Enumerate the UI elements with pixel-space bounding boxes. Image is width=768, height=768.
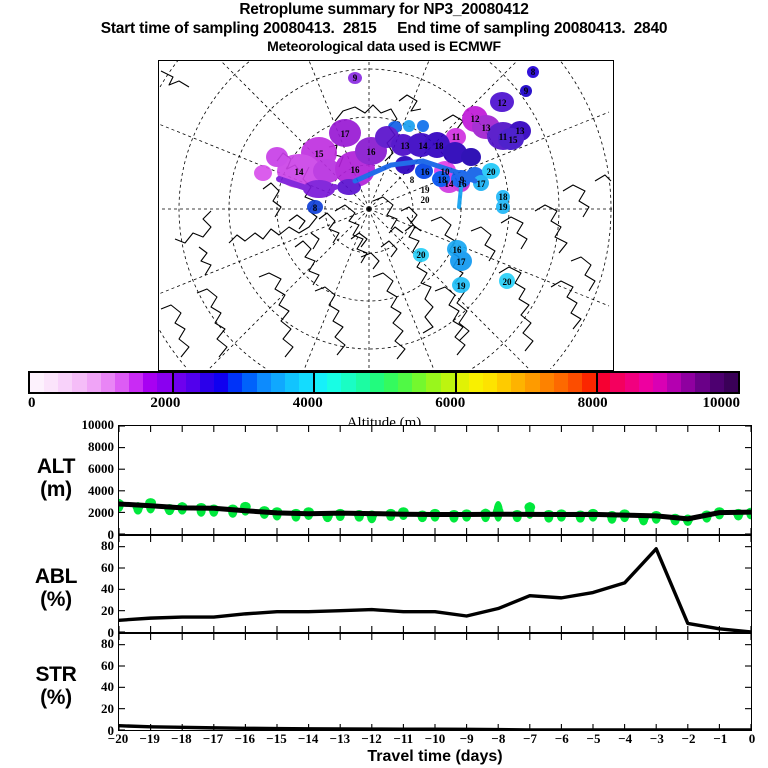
svg-text:20: 20 <box>487 167 497 177</box>
colorbar-swatch <box>398 373 412 392</box>
xtick-label: −7 <box>523 731 537 747</box>
xtick-label: −15 <box>266 731 286 747</box>
colorbar-swatch <box>58 373 72 392</box>
retroplume-map[interactable]: 98 912 1213 1111 1315 1014 1615 1416 161… <box>158 60 614 371</box>
colorbar-swatch <box>129 373 143 392</box>
str-plot <box>119 634 751 730</box>
colorbar-swatch <box>257 373 271 392</box>
svg-text:15: 15 <box>315 149 325 159</box>
colorbar-swatch <box>625 373 639 392</box>
xtick-label: −5 <box>587 731 601 747</box>
ytick-label: 2000 <box>88 505 114 521</box>
ytick-label: 80 <box>101 636 114 652</box>
colorbar-swatch <box>271 373 285 392</box>
colorbar-swatch <box>44 373 58 392</box>
colorbar-swatch <box>540 373 554 392</box>
xtick-label: −18 <box>171 731 191 747</box>
colorbar-swatch <box>582 373 596 392</box>
colorbar-swatch <box>356 373 370 392</box>
alt-ytick-labels: 0200040006000800010000 <box>58 425 114 535</box>
colorbar-swatch <box>426 373 440 392</box>
colorbar-swatch <box>455 373 469 392</box>
abl-plot <box>119 536 751 632</box>
xtick-label: −8 <box>491 731 505 747</box>
colorbar-swatch <box>710 373 724 392</box>
abl-panel[interactable] <box>118 535 752 633</box>
svg-text:19: 19 <box>421 185 431 195</box>
xtick-label: −20 <box>108 731 128 747</box>
colorbar-swatch <box>327 373 341 392</box>
colorbar-swatch <box>172 373 186 392</box>
colorbar-swatch <box>370 373 384 392</box>
colorbar-swatch <box>228 373 242 392</box>
colorbar-divider <box>313 373 315 392</box>
svg-text:17: 17 <box>477 179 487 189</box>
colorbar-swatch <box>511 373 525 392</box>
colorbar-tick-label: 0 <box>28 395 36 412</box>
colorbar-swatch <box>200 373 214 392</box>
colorbar-tick-labels: 0200040006000800010000 <box>28 395 740 415</box>
colorbar-swatch <box>610 373 624 392</box>
svg-text:14: 14 <box>419 141 429 151</box>
svg-text:16: 16 <box>367 147 377 157</box>
colorbar-swatch <box>525 373 539 392</box>
ytick-label: 80 <box>101 538 114 554</box>
colorbar-swatch <box>313 373 327 392</box>
colorbar-swatch <box>653 373 667 392</box>
ytick-label: 40 <box>101 581 114 597</box>
svg-text:20: 20 <box>421 195 431 205</box>
colorbar-swatch <box>143 373 157 392</box>
colorbar-swatch <box>554 373 568 392</box>
svg-text:18: 18 <box>435 141 445 151</box>
colorbar-divider <box>455 373 457 392</box>
svg-text:12: 12 <box>471 114 481 124</box>
ytick-label: 4000 <box>88 483 114 499</box>
colorbar-tick-label: 2000 <box>150 395 180 412</box>
colorbar-swatch <box>341 373 355 392</box>
ytick-label: 6000 <box>88 461 114 477</box>
str-panel[interactable] <box>118 633 752 731</box>
svg-text:8: 8 <box>410 175 415 185</box>
xtick-label: −6 <box>555 731 569 747</box>
colorbar-swatch <box>242 373 256 392</box>
colorbar-swatch <box>483 373 497 392</box>
xtick-label: 0 <box>749 731 756 747</box>
met-data-line: Meteorological data used is ECMWF <box>0 38 768 55</box>
colorbar-divider <box>172 373 174 392</box>
colorbar-swatch <box>497 373 511 392</box>
colorbar-tick-label: 4000 <box>293 395 323 412</box>
ytick-label: 60 <box>101 560 114 576</box>
xaxis-tick-labels: −20−19−18−17−16−15−14−13−12−11−10−9−8−7−… <box>118 731 752 747</box>
colorbar-swatch <box>30 373 44 392</box>
colorbar-swatch <box>412 373 426 392</box>
xtick-label: −11 <box>393 731 413 747</box>
svg-text:8: 8 <box>531 67 536 77</box>
svg-text:17: 17 <box>457 257 467 267</box>
colorbar-swatch <box>695 373 709 392</box>
colorbar-swatch <box>639 373 653 392</box>
colorbar-swatch <box>299 373 313 392</box>
ytick-label: 10000 <box>82 417 115 433</box>
colorbar-swatch <box>384 373 398 392</box>
svg-text:9: 9 <box>460 175 465 185</box>
colorbar-swatch <box>285 373 299 392</box>
xtick-label: −1 <box>713 731 727 747</box>
svg-text:13: 13 <box>401 141 411 151</box>
colorbar-swatch <box>469 373 483 392</box>
xtick-label: −4 <box>618 731 632 747</box>
svg-text:12: 12 <box>498 98 508 108</box>
svg-text:20: 20 <box>417 250 427 260</box>
xtick-label: −2 <box>682 731 696 747</box>
svg-text:8: 8 <box>313 203 318 213</box>
colorbar-swatch <box>441 373 455 392</box>
svg-text:11: 11 <box>499 132 508 142</box>
altitude-colorbar-block: 0200040006000800010000 Altitude (m) <box>28 371 740 432</box>
abl-ytick-labels: 020406080 <box>58 535 114 633</box>
colorbar-swatch <box>568 373 582 392</box>
xtick-label: −13 <box>330 731 350 747</box>
svg-text:11: 11 <box>452 132 461 142</box>
map-graphic: 98 912 1213 1111 1315 1014 1615 1416 161… <box>159 61 612 369</box>
colorbar-swatch <box>214 373 228 392</box>
xaxis-title: Travel time (days) <box>118 748 752 766</box>
colorbar-swatch <box>186 373 200 392</box>
svg-text:16: 16 <box>351 165 361 175</box>
colorbar-swatch <box>157 373 171 392</box>
colorbar-swatch <box>724 373 738 392</box>
svg-text:13: 13 <box>482 123 492 133</box>
xtick-label: −9 <box>460 731 474 747</box>
colorbar-swatch <box>72 373 86 392</box>
colorbar-swatch <box>681 373 695 392</box>
page-title: Retroplume summary for NP3_20080412 <box>0 0 768 19</box>
svg-text:9: 9 <box>524 86 529 96</box>
alt-panel[interactable] <box>118 425 752 535</box>
title-block: Retroplume summary for NP3_20080412 Star… <box>0 0 768 55</box>
xtick-label: −17 <box>203 731 223 747</box>
svg-text:15: 15 <box>509 135 519 145</box>
svg-text:17: 17 <box>341 129 351 139</box>
xtick-label: −12 <box>361 731 381 747</box>
ytick-label: 60 <box>101 658 114 674</box>
str-ytick-labels: 020406080 <box>58 633 114 731</box>
svg-text:19: 19 <box>499 202 509 212</box>
svg-text:18: 18 <box>438 175 448 185</box>
colorbar-swatch <box>115 373 129 392</box>
colorbar-swatch <box>667 373 681 392</box>
xtick-label: −19 <box>139 731 159 747</box>
svg-text:9: 9 <box>353 73 358 83</box>
ytick-label: 20 <box>101 603 114 619</box>
altitude-colorbar[interactable] <box>28 371 740 394</box>
colorbar-tick-label: 10000 <box>703 395 741 412</box>
alt-plot <box>119 426 751 534</box>
sampling-time-line: Start time of sampling 20080413. 2815 En… <box>0 19 768 38</box>
svg-text:20: 20 <box>503 277 513 287</box>
colorbar-tick-label: 8000 <box>578 395 608 412</box>
xtick-label: −16 <box>235 731 255 747</box>
colorbar-tick-label: 6000 <box>435 395 465 412</box>
colorbar-swatch <box>87 373 101 392</box>
xtick-label: −14 <box>298 731 318 747</box>
ytick-label: 8000 <box>88 439 114 455</box>
ytick-label: 20 <box>101 701 114 717</box>
colorbar-swatch <box>101 373 115 392</box>
ytick-label: 40 <box>101 679 114 695</box>
svg-text:16: 16 <box>453 245 463 255</box>
xtick-label: −10 <box>425 731 445 747</box>
svg-text:14: 14 <box>295 167 305 177</box>
svg-text:19: 19 <box>457 281 467 291</box>
xtick-label: −3 <box>650 731 664 747</box>
svg-text:18: 18 <box>499 192 509 202</box>
colorbar-divider <box>596 373 598 392</box>
svg-text:16: 16 <box>421 167 431 177</box>
